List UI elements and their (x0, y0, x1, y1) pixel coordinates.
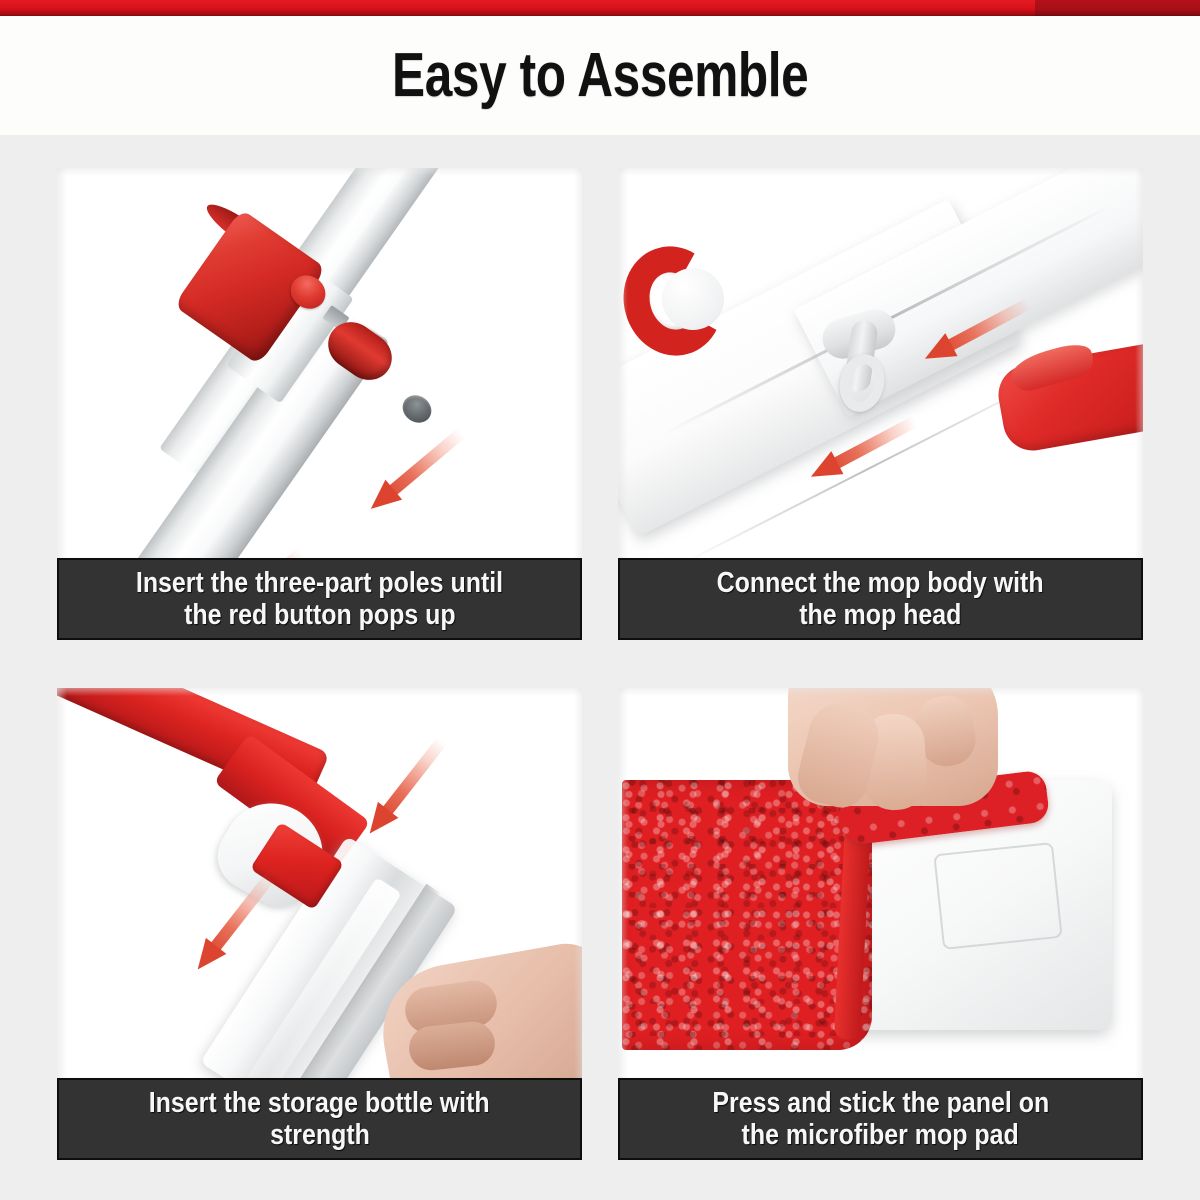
caption-line-1: Press and stick the panel on (712, 1087, 1049, 1119)
caption-line-2: the mop head (799, 599, 961, 631)
direction-arrow-icon (362, 423, 469, 519)
steps-grid: Insert the three-part poles until the re… (57, 168, 1143, 1168)
step-4-photo (618, 688, 1143, 1078)
header-band: Easy to Assemble (0, 16, 1200, 135)
step-4-caption: Press and stick the panel on the microfi… (618, 1078, 1143, 1160)
caption-line-1: Connect the mop body with (717, 567, 1044, 599)
caption-line-1: Insert the storage bottle with (149, 1087, 490, 1119)
panel-emboss-outline (933, 842, 1062, 950)
step-panel-1: Insert the three-part poles until the re… (57, 168, 582, 640)
top-accent-bar-dark-segment (1035, 0, 1200, 16)
direction-arrow-icon (359, 733, 452, 842)
caption-line-2: the microfiber mop pad (742, 1119, 1019, 1151)
step-1-caption: Insert the three-part poles until the re… (57, 558, 582, 640)
top-accent-bar (0, 0, 1200, 16)
page-body: Insert the three-part poles until the re… (0, 135, 1200, 1200)
step-panel-4: Press and stick the panel on the microfi… (618, 688, 1143, 1160)
step-3-caption: Insert the storage bottle with strength (57, 1078, 582, 1160)
step-panel-3: Insert the storage bottle with strength (57, 688, 582, 1160)
clip-socket-shape (662, 268, 724, 330)
step-1-photo (57, 168, 582, 558)
step-panel-2: Connect the mop body with the mop head (618, 168, 1143, 640)
arrow-shaft (384, 428, 465, 499)
pin-hole-shape (397, 390, 436, 429)
step-3-photo (57, 688, 582, 1078)
page-title: Easy to Assemble (392, 45, 808, 107)
caption-line-2: the red button pops up (184, 599, 456, 631)
step-2-photo (618, 168, 1143, 558)
step-2-caption: Connect the mop body with the mop head (618, 558, 1143, 640)
arrow-shaft (378, 737, 447, 820)
caption-line-2: strength (270, 1119, 370, 1151)
caption-line-1: Insert the three-part poles until (136, 567, 503, 599)
